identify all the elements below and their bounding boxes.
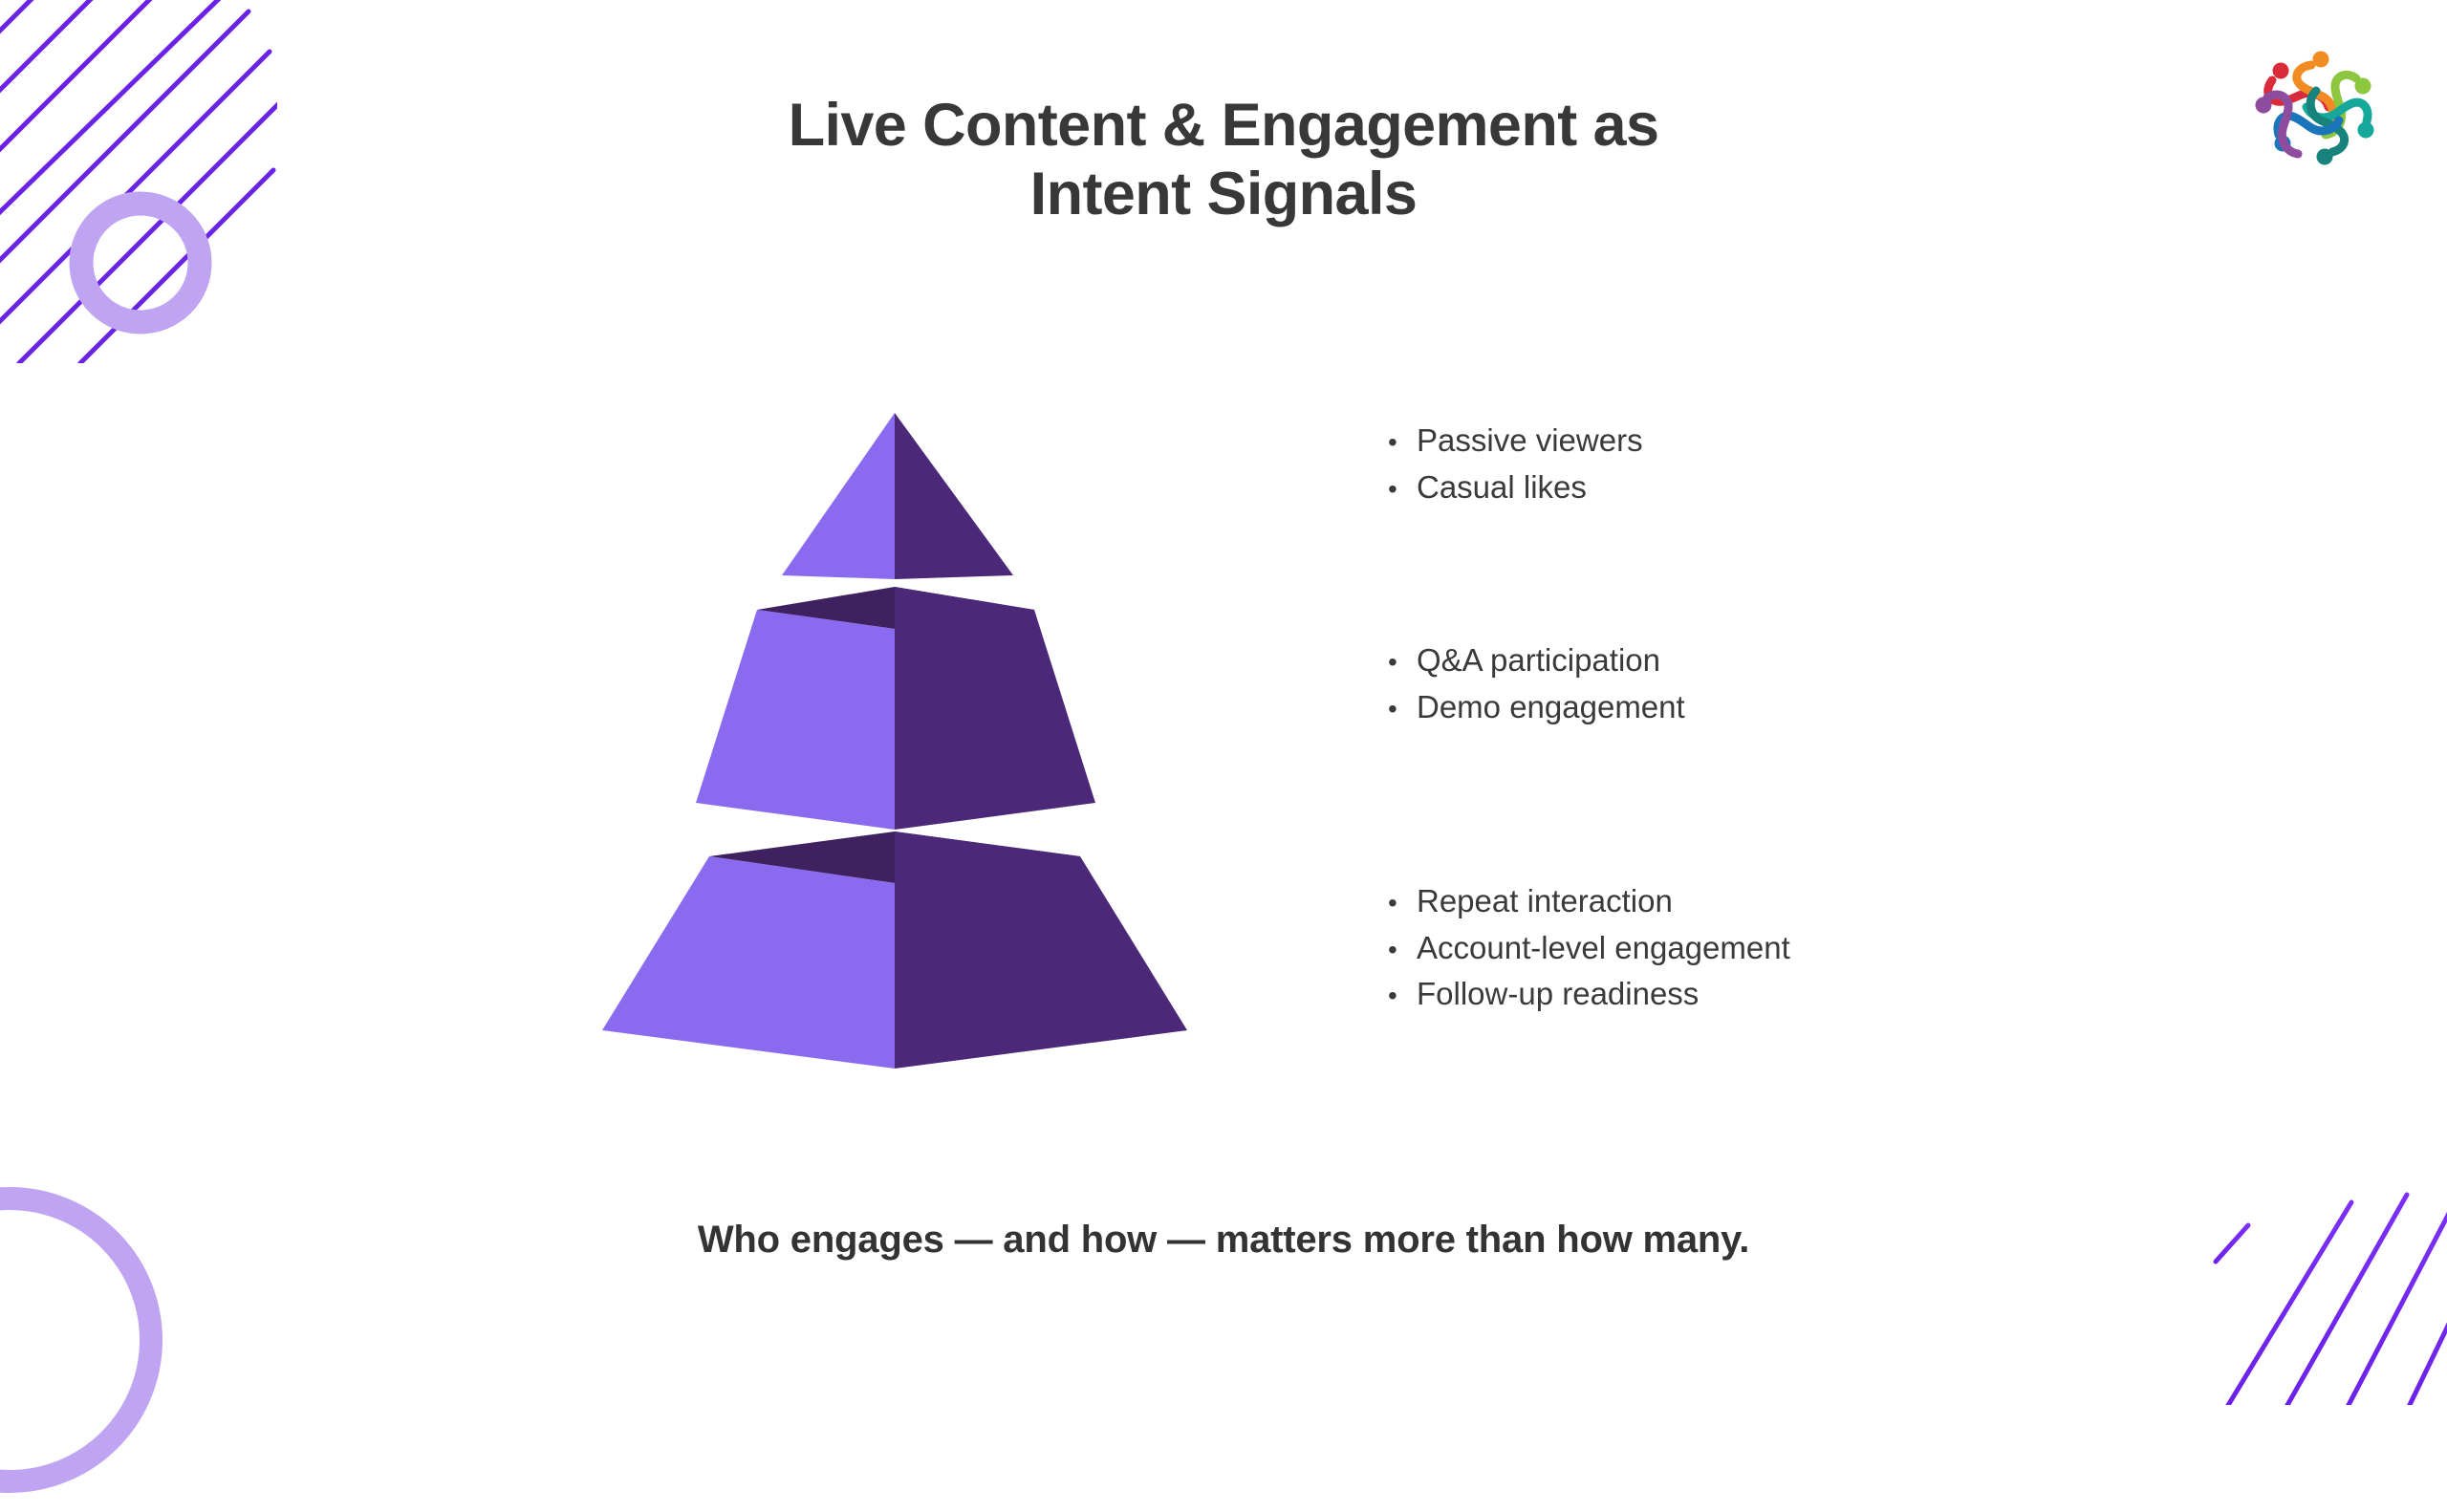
list-item: • Q&A participation [1388, 637, 1685, 684]
decor-diagonal-lines-bottom-right [2198, 1156, 2447, 1405]
pyramid-tier-top [782, 413, 1013, 579]
list-item-label: Account-level engagement [1417, 925, 1790, 972]
page-title-line-1: Live Content & Engagement as [507, 92, 1940, 161]
list-item-label: Repeat interaction [1417, 878, 1673, 925]
list-item-label: Follow-up readiness [1417, 971, 1699, 1018]
page-title: Live Content & Engagement as Intent Sign… [507, 92, 1940, 229]
list-item-label: Casual likes [1417, 464, 1587, 511]
bullet-marker-icon: • [1388, 429, 1417, 456]
decor-diagonal-lines-top-left [0, 0, 277, 363]
bullet-marker-icon: • [1388, 476, 1417, 503]
list-item: • Follow-up readiness [1388, 971, 1790, 1018]
bullet-marker-icon: • [1388, 983, 1417, 1009]
bullet-marker-icon: • [1388, 937, 1417, 963]
bullet-marker-icon: • [1388, 890, 1417, 917]
list-item: • Repeat interaction [1388, 878, 1790, 925]
list-item: • Account-level engagement [1388, 925, 1790, 972]
pyramid-diagram [449, 382, 1348, 1090]
list-item: • Demo engagement [1388, 684, 1685, 731]
footer-statement: Who engages — and how — matters more tha… [0, 1219, 2447, 1262]
bullet-group-tier-1: • Passive viewers • Casual likes [1388, 418, 1643, 510]
list-item-label: Passive viewers [1417, 418, 1643, 464]
list-item-label: Q&A participation [1417, 637, 1660, 684]
bullet-group-tier-3: • Repeat interaction • Account-level eng… [1388, 878, 1790, 1018]
page-title-line-2: Intent Signals [507, 161, 1940, 229]
bullet-group-tier-2: • Q&A participation • Demo engagement [1388, 637, 1685, 730]
list-item: • Passive viewers [1388, 418, 1643, 464]
pyramid-tier-base [602, 832, 1187, 1069]
list-item-label: Demo engagement [1417, 684, 1685, 731]
list-item: • Casual likes [1388, 464, 1643, 511]
pyramid-tier-top-right-face [895, 413, 1013, 579]
pyramid-tier-middle-left-face [696, 610, 895, 830]
decor-ring-top-left [59, 182, 222, 344]
pyramid-tier-base-left-face [602, 856, 895, 1069]
pyramid-tier-middle-right-face [895, 587, 1095, 830]
pyramid-tier-middle [696, 587, 1095, 830]
bullet-marker-icon: • [1388, 649, 1417, 676]
people-circle-logo [2246, 38, 2390, 172]
pyramid-tier-base-right-face [895, 832, 1187, 1069]
pyramid-tier-top-left-face [782, 413, 895, 579]
bullet-marker-icon: • [1388, 696, 1417, 723]
